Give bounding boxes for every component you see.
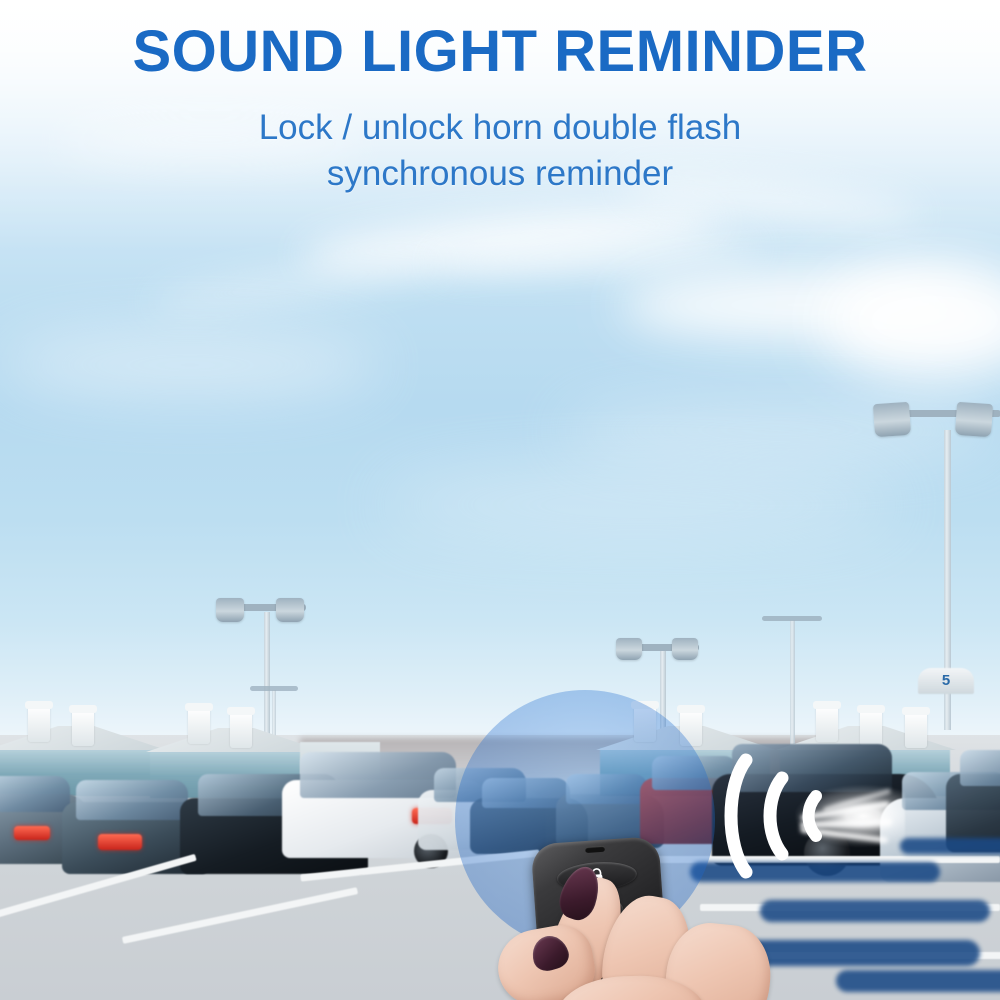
hand-holding-fob [500,880,780,1000]
page-subtitle: Lock / unlock horn double flash synchron… [0,105,1000,197]
light-pole-arm [762,616,822,621]
lamp-head [955,402,993,437]
roof-vent [230,712,252,748]
roof-vent [188,708,210,744]
cloud-wisp [0,330,380,400]
subtitle-line-1: Lock / unlock horn double flash [0,105,1000,151]
product-poster: 5 [0,0,1000,1000]
light-pole-mid [264,612,270,752]
lamp-head [616,638,642,660]
cloud-wisp [380,470,900,540]
pole-sign-number: 5 [918,670,974,692]
roof-vent [816,706,838,742]
page-title: SOUND LIGHT REMINDER [0,22,1000,83]
car-shadow [900,838,1000,854]
subtitle-line-2: synchronous reminder [0,151,1000,197]
roof-vent [28,706,50,742]
car-shadow [760,900,990,922]
car-shadow [836,970,1000,992]
lamp-head [873,402,911,437]
lamp-head [672,638,698,660]
lamp-head [276,598,304,622]
cloud-wisp [560,400,1000,460]
lamp-head [216,598,244,622]
roof-vent [72,710,94,746]
light-pole-arm [250,686,298,691]
